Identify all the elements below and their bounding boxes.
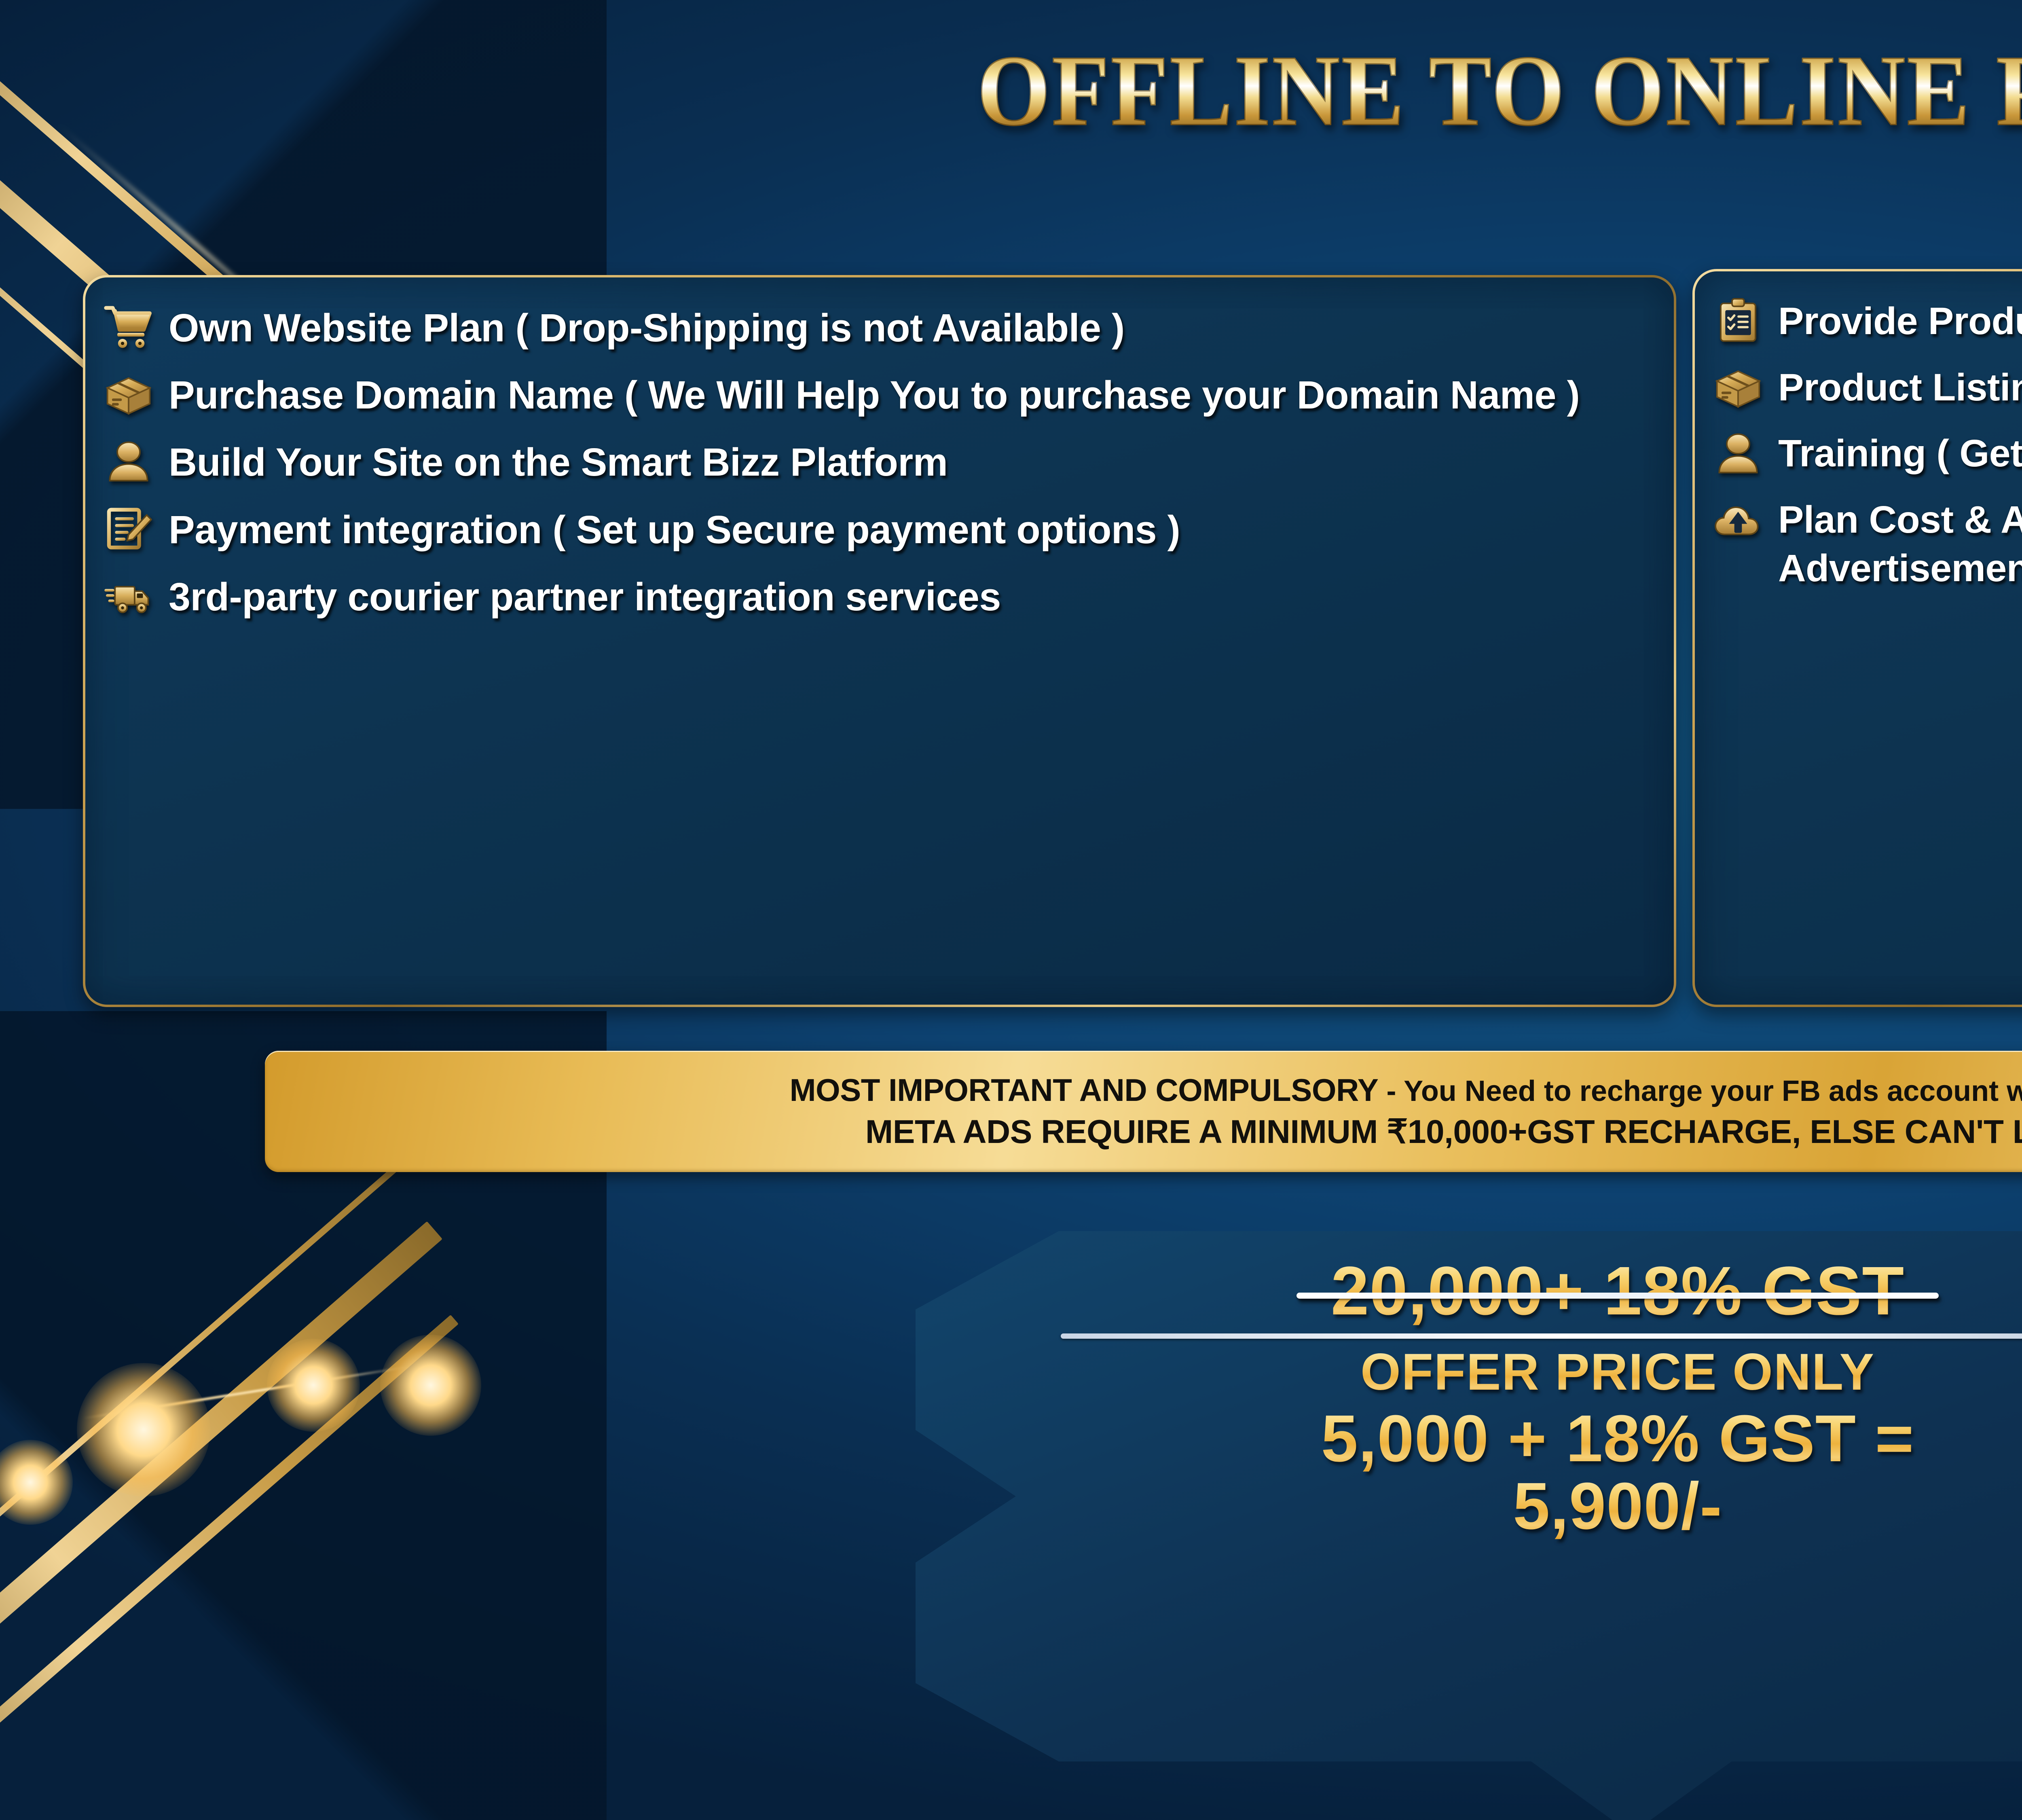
corner-decoration-bottom-left xyxy=(0,1213,607,1820)
feature-item: 3rd-party courier partner integration se… xyxy=(104,571,1655,622)
notice-line-2: META ADS REQUIRE A MINIMUM ₹10,000+GST R… xyxy=(865,1113,2022,1151)
feature-item: Payment integration ( Set up Secure paym… xyxy=(104,504,1655,554)
delivery-truck-icon xyxy=(104,573,153,618)
strikethrough-line xyxy=(1297,1293,1939,1299)
cloud-upload-icon xyxy=(1713,497,1763,542)
notice-line-1-strong: MOST IMPORTANT AND COMPULSORY xyxy=(790,1072,1379,1108)
promo-poster: OFFLINE TO ONLINE PLAN Own Website Plan … xyxy=(0,0,2022,1820)
feature-item: Purchase Domain Name ( We Will Help You … xyxy=(104,370,1655,420)
bokeh-dot xyxy=(267,1339,360,1432)
feature-text: Payment integration ( Set up Secure paym… xyxy=(169,504,1180,554)
feature-item: Build Your Site on the Smart Bizz Platfo… xyxy=(104,437,1655,487)
feature-item: Plan Cost & Ads ( 5,000+ tax ( Plan Fee … xyxy=(1713,495,2022,593)
old-price-value: 20,000+ 18% GST xyxy=(1331,1253,1904,1329)
bokeh-dot xyxy=(77,1363,210,1496)
gold-stripe xyxy=(0,1141,426,1650)
shopping-cart-icon xyxy=(104,304,153,349)
bokeh-dot xyxy=(380,1335,481,1436)
feature-item: Product Listing ( We will List 20 produc… xyxy=(1713,363,2022,412)
feature-item: Training ( Get training for adding more … xyxy=(1713,429,2022,478)
old-price-container: 20,000+ 18% GST xyxy=(1331,1256,1904,1326)
person-icon xyxy=(1713,430,1763,476)
compulsory-notice-banner: MOST IMPORTANT AND COMPULSORY - You Need… xyxy=(265,1051,2022,1172)
offer-price: 5,000 + 18% GST = xyxy=(962,1405,2022,1472)
badge-divider xyxy=(1061,1333,2022,1339)
clipboard-checklist-icon xyxy=(1713,298,1763,343)
price-badge: 20,000+ 18% GST OFFER PRICE ONLY 5,000 +… xyxy=(902,1217,2022,1820)
person-icon xyxy=(104,438,153,484)
feature-text: Build Your Site on the Smart Bizz Platfo… xyxy=(169,437,948,487)
features-card-right: Provide Product Info ( Client provides p… xyxy=(1692,269,2022,1007)
feature-text: 3rd-party courier partner integration se… xyxy=(169,571,1001,622)
offer-label: OFFER PRICE ONLY xyxy=(962,1346,2022,1399)
features-card-left: Own Website Plan ( Drop-Shipping is not … xyxy=(83,275,1676,1007)
notice-line-1-rest: - You Need to recharge your FB ads accou… xyxy=(1378,1075,2022,1107)
feature-text: Own Website Plan ( Drop-Shipping is not … xyxy=(169,303,1125,353)
feature-text: Provide Product Info ( Client provides p… xyxy=(1778,296,2022,346)
feature-item: Provide Product Info ( Client provides p… xyxy=(1713,296,2022,346)
feature-item: Own Website Plan ( Drop-Shipping is not … xyxy=(104,303,1655,353)
package-box-icon xyxy=(104,371,153,417)
feature-text: Purchase Domain Name ( We Will Help You … xyxy=(169,370,1580,420)
bokeh-dot xyxy=(0,1440,73,1525)
page-title: OFFLINE TO ONLINE PLAN xyxy=(977,40,2022,142)
feature-text: Product Listing ( We will List 20 produc… xyxy=(1778,363,2022,412)
badge-content: 20,000+ 18% GST OFFER PRICE ONLY 5,000 +… xyxy=(902,1256,2022,1540)
notice-line-1: MOST IMPORTANT AND COMPULSORY - You Need… xyxy=(790,1072,2022,1109)
feature-text: Training ( Get training for adding more … xyxy=(1778,429,2022,478)
offer-total: 5,900/- xyxy=(962,1472,2022,1540)
package-box-icon xyxy=(1713,364,1763,410)
page-title-container: OFFLINE TO ONLINE PLAN xyxy=(0,40,2022,142)
feature-text: Plan Cost & Ads ( 5,000+ tax ( Plan Fee … xyxy=(1778,495,2022,593)
document-edit-icon xyxy=(104,506,153,551)
